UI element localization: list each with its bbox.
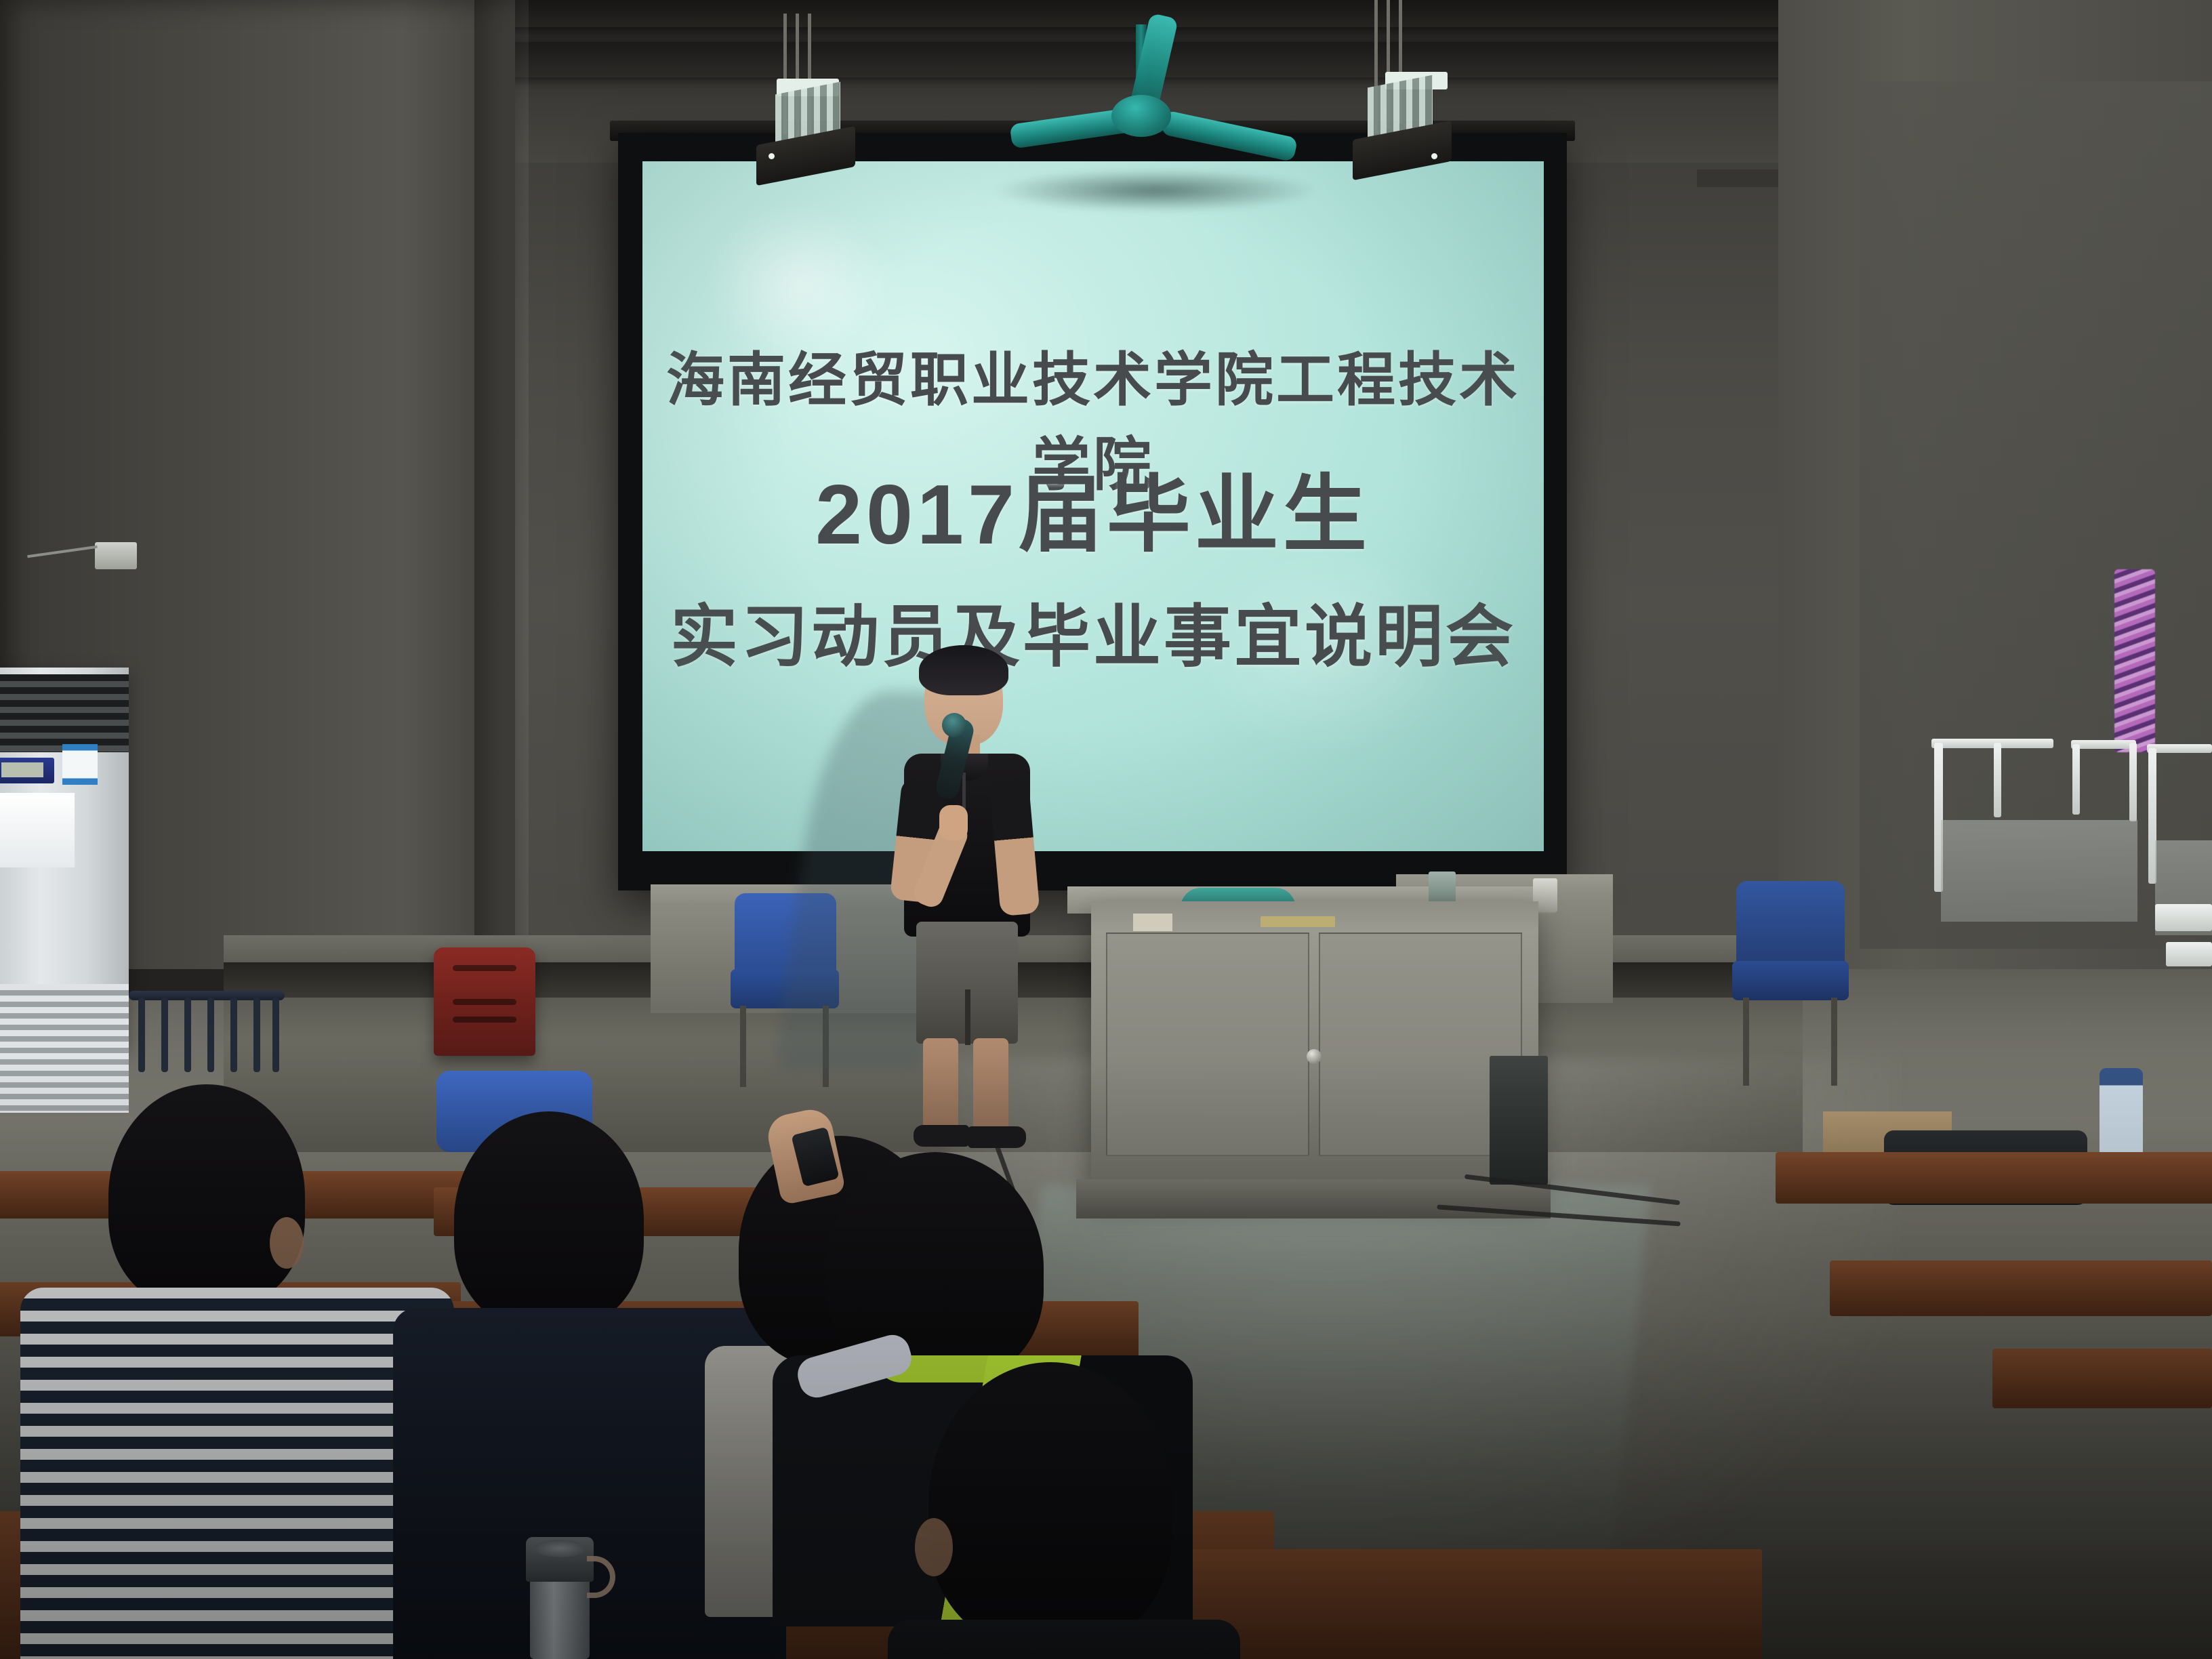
speaker-hand — [939, 805, 968, 840]
wall-socket[interactable] — [95, 542, 137, 569]
desk-row-back-right — [1776, 1152, 2212, 1204]
metal-thermos-bottle[interactable] — [522, 1537, 598, 1659]
lamp-dot-left — [769, 153, 775, 159]
student-speaker — [881, 651, 1057, 1152]
chair-spindle-1 — [138, 998, 145, 1072]
frame-bar-top-b — [2071, 740, 2136, 749]
chair-leg-a — [1743, 998, 1749, 1086]
air-conditioner-panel — [0, 793, 75, 867]
red-plastic-stool[interactable] — [434, 947, 535, 1056]
chair-spindle-4 — [207, 998, 214, 1072]
chair-spindle-7 — [272, 998, 279, 1072]
frame-post-d — [2129, 743, 2137, 821]
speaker-shoe-right — [968, 1126, 1026, 1148]
thermos-cap-top — [534, 1540, 586, 1557]
student-ear — [270, 1217, 304, 1269]
projection-screen-surface: 海南经贸职业技术学院工程技术学院 2017届毕业生 实习动员及毕业事宜说明会 — [642, 161, 1544, 851]
podium-base — [1076, 1179, 1551, 1218]
speaker-leg-left — [923, 1038, 958, 1133]
stool-slot-c — [453, 1017, 516, 1023]
purple-tinsel-decoration — [2114, 569, 2155, 752]
air-conditioner-top-grille — [0, 674, 129, 752]
podium-sticker — [1133, 914, 1172, 931]
chair-seat — [1732, 961, 1849, 1000]
screen-vignette — [642, 161, 1544, 851]
speaker-leg-right — [973, 1038, 1008, 1133]
podium-label — [1261, 916, 1335, 927]
tower-fan-vent-bottom — [1498, 1107, 1537, 1137]
ceiling-fan-motor — [1111, 95, 1171, 137]
desk-row-right-front — [1992, 1349, 2212, 1408]
projection-screen: 海南经贸职业技术学院工程技术学院 2017届毕业生 实习动员及毕业事宜说明会 — [618, 133, 1567, 890]
student-head — [928, 1362, 1172, 1647]
ceiling-fan-blade-3 — [1160, 110, 1298, 162]
frame-post-b — [1994, 743, 2001, 817]
thermos-body — [530, 1578, 590, 1659]
desktop-computer-tower — [1490, 1056, 1548, 1185]
frame-panel-main — [1941, 820, 2137, 922]
podium-lock-knob[interactable] — [1307, 1049, 1322, 1064]
speaker-shorts-split — [965, 989, 970, 1045]
speaker-shoe-left — [914, 1125, 969, 1147]
frame-shelf — [2155, 904, 2212, 931]
desk-row-front-right — [1152, 1549, 1762, 1659]
podium-cabinet[interactable] — [1091, 901, 1538, 1193]
speaker-hair — [919, 645, 1008, 695]
student-front-row-shirt — [888, 1620, 1240, 1659]
column-left-edge — [474, 0, 529, 1017]
classroom-photo-scene: 实习动员及毕业事宜说明会 海南经贸职业技术学院工程技术学院 2017届毕业生 — [0, 0, 2212, 1659]
stool-slot-a — [453, 965, 516, 971]
student-ear — [915, 1518, 953, 1576]
ceiling-fan-shadow — [996, 169, 1315, 211]
frame-bar-top-a — [1931, 739, 2053, 748]
ceiling-fan — [1003, 24, 1288, 194]
fluorescent-light-right — [1355, 0, 1491, 183]
stool-slot-b — [453, 999, 516, 1005]
student-striped-tshirt — [20, 1288, 454, 1659]
chair-spindle-2 — [161, 998, 168, 1072]
chair-leg-b — [1831, 998, 1837, 1086]
chair-spindle-5 — [230, 998, 237, 1072]
chair-leg-a — [740, 1006, 746, 1087]
chair-spindle-3 — [184, 998, 191, 1072]
student-head — [108, 1084, 305, 1308]
tower-fan-vent-top — [1498, 1067, 1537, 1097]
chair-back — [1736, 881, 1845, 973]
frame-bar-top-c — [2147, 744, 2212, 753]
fluorescent-light-left — [760, 14, 896, 197]
air-conditioner-bottom-grille — [0, 984, 129, 1113]
desk-row-right-mid — [1830, 1261, 2212, 1316]
frame-post-c — [2072, 744, 2080, 815]
student-head — [454, 1111, 644, 1328]
chair-spindle-6 — [253, 998, 260, 1072]
display-frame-rack — [1931, 739, 2212, 1023]
chair-top-rail — [129, 991, 285, 1000]
air-conditioner-label-sticker — [62, 744, 98, 785]
frame-shelf-lower — [2166, 942, 2212, 966]
podium-door-left[interactable] — [1106, 933, 1309, 1156]
air-conditioner-badge-inner — [1, 762, 43, 777]
lamp-dot-right — [1431, 153, 1437, 159]
air-conditioner-badge — [0, 758, 54, 783]
